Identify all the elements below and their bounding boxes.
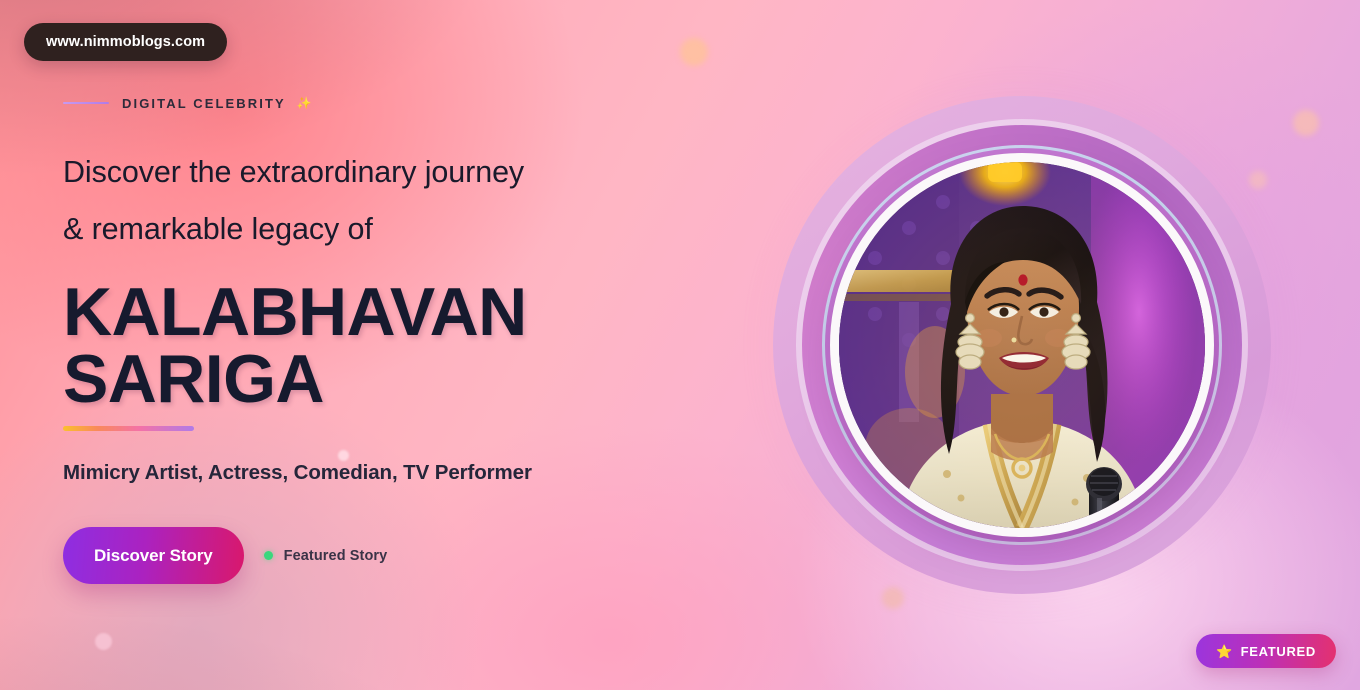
featured-badge[interactable]: ⭐ FEATURED — [1196, 634, 1336, 668]
eyebrow: DIGITAL CELEBRITY ✨ — [63, 92, 723, 114]
headline-lead-line-2: & remarkable legacy of — [63, 201, 723, 258]
sparkle-icon: ✨ — [297, 97, 312, 109]
status-dot-icon — [264, 551, 273, 560]
eyebrow-accent-line — [63, 102, 109, 105]
featured-story-label: Featured Story — [284, 548, 388, 564]
portrait-photo — [839, 162, 1205, 528]
portrait-photo-graphic — [839, 162, 1205, 528]
page-title-line-2: SARIGA — [63, 346, 723, 413]
cta-row: Discover Story Featured Story — [63, 527, 723, 584]
site-url-badge[interactable]: www.nimmoblogs.com — [24, 23, 227, 61]
star-icon: ⭐ — [1216, 645, 1232, 658]
discover-story-button[interactable]: Discover Story — [63, 527, 244, 584]
page-title-line-1: KALABHAVAN — [63, 279, 723, 346]
featured-badge-label: FEATURED — [1241, 644, 1316, 659]
featured-story-note: Featured Story — [264, 548, 388, 564]
headline-lead: Discover the extraordinary journey & rem… — [63, 144, 723, 259]
hero-stage: www.nimmoblogs.com DIGITAL CELEBRITY ✨ D… — [0, 0, 1360, 690]
title-underline-accent — [63, 426, 194, 431]
site-url-text: www.nimmoblogs.com — [46, 34, 205, 50]
role-subtitle: Mimicry Artist, Actress, Comedian, TV Pe… — [63, 461, 723, 485]
hero-content: DIGITAL CELEBRITY ✨ Discover the extraor… — [63, 92, 723, 584]
page-title: KALABHAVAN SARIGA — [63, 279, 723, 414]
headline-lead-line-1: Discover the extraordinary journey — [63, 144, 723, 201]
eyebrow-label: DIGITAL CELEBRITY — [122, 96, 286, 111]
portrait-medallion[interactable] — [742, 65, 1302, 625]
